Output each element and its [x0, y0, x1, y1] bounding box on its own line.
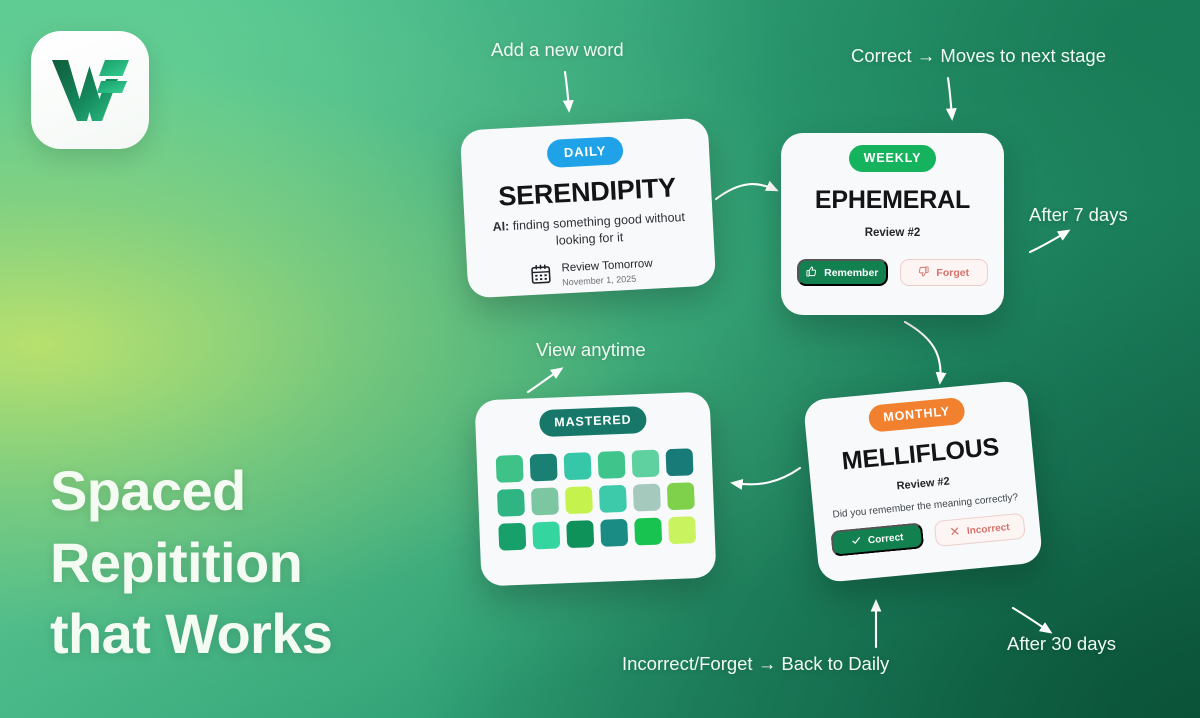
headline-line-3: that Works — [50, 598, 470, 670]
mastered-swatch — [634, 518, 662, 546]
card-mastered[interactable]: MASTERED — [475, 392, 717, 587]
app-logo-tile — [31, 31, 149, 149]
mastered-swatch — [498, 523, 526, 551]
card-daily-review-date: November 1, 2025 — [562, 273, 654, 289]
annotation-view-anytime: View anytime — [536, 339, 646, 361]
mastered-swatch — [632, 450, 660, 478]
arrow-add-word — [565, 72, 569, 110]
calendar-icon — [529, 262, 553, 291]
remember-button[interactable]: Remember — [797, 259, 888, 286]
arrow-view-anytime — [528, 369, 561, 392]
mastered-swatch — [531, 487, 559, 515]
arrow-correct-next — [948, 78, 952, 118]
card-daily-definition: AI: finding something good without looki… — [480, 208, 697, 252]
mastered-swatch — [667, 482, 695, 510]
poster-canvas: Spaced Repitition that Works Add a new w… — [0, 0, 1200, 718]
w-logo-icon — [50, 57, 130, 123]
card-daily-word: SERENDIPITY — [479, 171, 696, 213]
mastered-swatch — [599, 485, 627, 513]
arrow-monthly-to-mastered — [733, 468, 800, 484]
forget-button-label: Forget — [936, 267, 969, 279]
annotation-correct-next-stage: Correct → Moves to next stage — [851, 45, 1106, 67]
mastered-swatch — [497, 489, 525, 517]
badge-mastered: MASTERED — [539, 406, 647, 437]
mastered-swatch — [496, 455, 524, 483]
correct-button[interactable]: Correct — [830, 522, 924, 557]
mastered-swatch — [532, 521, 560, 549]
badge-weekly: WEEKLY — [849, 145, 937, 172]
page-title: Spaced Repitition that Works — [50, 455, 470, 670]
mastered-swatch — [668, 516, 696, 544]
correct-button-label: Correct — [867, 532, 903, 546]
annotation-after-7-days: After 7 days — [1029, 204, 1128, 226]
mastered-progress-grid — [493, 448, 699, 551]
badge-daily: DAILY — [546, 136, 624, 168]
mastered-swatch — [530, 453, 558, 481]
mastered-swatch — [598, 451, 626, 479]
mastered-swatch — [633, 484, 661, 512]
mastered-swatch — [600, 519, 628, 547]
card-daily-definition-label: AI: — [492, 219, 509, 234]
headline-line-1: Spaced — [50, 455, 470, 527]
mastered-swatch — [666, 448, 694, 476]
annotation-incorrect-back-to-daily: Incorrect/Forget → Back to Daily — [622, 653, 889, 675]
card-daily[interactable]: DAILY SERENDIPITY AI: finding something … — [460, 118, 716, 299]
mastered-swatch — [566, 520, 594, 548]
card-monthly[interactable]: MONTHLY MELLIFLOUS Review #2 Did you rem… — [803, 380, 1043, 583]
badge-monthly: MONTHLY — [867, 397, 966, 433]
thumbs-down-icon — [918, 266, 929, 280]
mastered-swatch — [565, 486, 593, 514]
arrow-after-30-days — [1013, 608, 1050, 632]
incorrect-button-label: Incorrect — [966, 522, 1010, 537]
remember-button-label: Remember — [824, 267, 878, 279]
card-weekly[interactable]: WEEKLY EPHEMERAL Review #2 Remember — [781, 133, 1004, 315]
card-daily-definition-text: finding something good without looking f… — [512, 210, 685, 247]
arrow-after-7-days — [1030, 231, 1068, 252]
incorrect-button[interactable]: Incorrect — [934, 513, 1026, 547]
mastered-swatch — [564, 452, 592, 480]
card-weekly-word: EPHEMERAL — [795, 186, 990, 215]
card-weekly-review-number: Review #2 — [795, 227, 990, 239]
forget-button[interactable]: Forget — [900, 259, 989, 286]
arrow-weekly-to-monthly — [905, 322, 941, 382]
arrow-daily-to-weekly — [716, 184, 776, 199]
check-icon — [850, 535, 861, 549]
cross-icon — [949, 525, 960, 539]
headline-line-2: Repitition — [50, 527, 470, 599]
annotation-add-word: Add a new word — [491, 39, 624, 61]
annotation-after-30-days: After 30 days — [1007, 633, 1116, 655]
thumbs-up-icon — [806, 266, 817, 280]
